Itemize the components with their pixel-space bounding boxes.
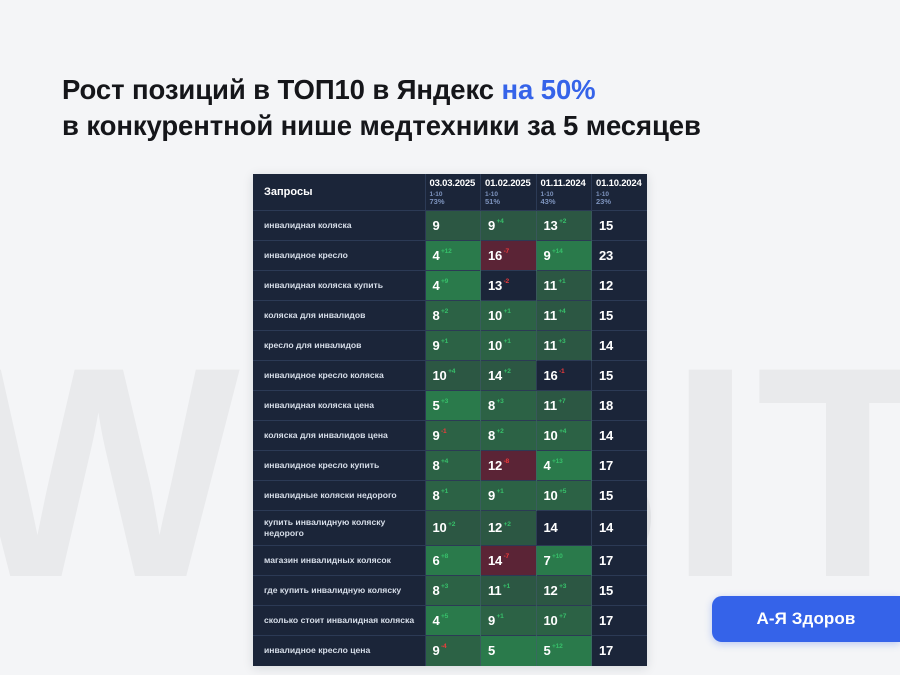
rank-value: 10 [433,368,447,383]
rank-value: 10 [544,428,558,443]
rank-value: 14 [544,520,558,535]
rank-delta: +4 [559,428,566,435]
rank-value: 15 [599,583,613,598]
table-row[interactable]: инвалидная коляска цена5+38+311+718 [253,391,647,421]
rank-cell: 16-7 [481,241,537,271]
rank-cell: 9+4 [481,211,537,241]
rank-delta: +9 [441,278,448,285]
rank-delta: +2 [497,428,504,435]
rank-cell: 17 [592,451,648,481]
rank-delta: +12 [441,248,452,255]
rank-value: 4 [433,278,440,293]
rank-delta: +1 [504,308,511,315]
column-header-date-2[interactable]: 01.11.2024 1-10 43% [536,174,592,211]
table-row[interactable]: инвалидные коляски недорого8+19+110+515 [253,481,647,511]
rank-cell: 14 [592,331,648,361]
rank-cell: 10+4 [536,421,592,451]
rank-value: 9 [433,218,440,233]
headline-line2: в конкурентной нише медтехники за 5 меся… [62,110,701,141]
rank-value: 8 [488,398,495,413]
rank-cell: 9-4 [425,636,481,666]
rank-cell: 15 [592,211,648,241]
column-header-queries: Запросы [253,174,425,211]
rank-delta: +2 [504,368,511,375]
query-cell: купить инвалидную коляску недорого [253,511,425,546]
rank-cell: 12 [592,271,648,301]
rank-delta: -1 [559,368,564,375]
table-row[interactable]: купить инвалидную коляску недорого10+212… [253,511,647,546]
headline-accent: на 50% [502,74,596,105]
rank-cell: 4+5 [425,606,481,636]
rank-cell: 15 [592,576,648,606]
rank-value: 13 [488,278,502,293]
rank-delta: +4 [441,458,448,465]
table-row[interactable]: кресло для инвалидов9+110+111+314 [253,331,647,361]
rank-cell: 9+1 [481,481,537,511]
rank-cell: 23 [592,241,648,271]
rank-value: 9 [433,643,440,658]
rank-delta: +2 [448,521,455,528]
rank-value: 7 [544,553,551,568]
rank-value: 9 [433,338,440,353]
rank-delta: +1 [441,338,448,345]
rank-delta: -1 [441,428,446,435]
query-cell: коляска для инвалидов цена [253,421,425,451]
rank-value: 12 [488,520,502,535]
rank-value: 13 [544,218,558,233]
rank-value: 8 [433,488,440,503]
rank-value: 4 [433,248,440,263]
rank-value: 6 [433,553,440,568]
rank-cell: 14-7 [481,546,537,576]
rank-value: 8 [433,458,440,473]
pct-label-0: 73% [430,198,481,206]
query-cell: инвалидная коляска [253,211,425,241]
query-cell: где купить инвалидную коляску [253,576,425,606]
rank-value: 14 [488,553,502,568]
rank-cell: 10+5 [536,481,592,511]
rank-cell: 8+2 [481,421,537,451]
rank-value: 17 [599,553,613,568]
rank-value: 5 [544,643,551,658]
rank-cell: 14 [592,511,648,546]
rank-value: 12 [599,278,613,293]
rank-cell: 6+8 [425,546,481,576]
query-cell: сколько стоит инвалидная коляска [253,606,425,636]
rank-value: 14 [599,428,613,443]
rank-delta: +14 [552,248,563,255]
rank-delta: +3 [558,338,565,345]
rank-cell: 14 [536,511,592,546]
table-header-row: Запросы 03.03.2025 1-10 73% 01.02.2025 1… [253,174,647,211]
table-row[interactable]: инвалидная коляска купить4+913-211+112 [253,271,647,301]
rank-value: 11 [544,338,557,353]
query-cell: кресло для инвалидов [253,331,425,361]
rank-delta: -4 [441,643,446,650]
rank-value: 12 [488,458,502,473]
rank-cell: 11+3 [536,331,592,361]
rank-cell: 14 [592,421,648,451]
column-header-date-0[interactable]: 03.03.2025 1-10 73% [425,174,481,211]
rank-value: 10 [488,338,502,353]
rank-delta: +7 [559,613,566,620]
rank-value: 9 [488,218,495,233]
column-header-date-1[interactable]: 01.02.2025 1-10 51% [481,174,537,211]
rank-cell: 9 [425,211,481,241]
query-cell: магазин инвалидных колясок [253,546,425,576]
date-label-3: 01.10.2024 [596,178,647,190]
rank-cell: 10+4 [425,361,481,391]
query-cell: инвалидная коляска цена [253,391,425,421]
rank-cell: 13+2 [536,211,592,241]
rank-value: 16 [544,368,558,383]
rank-value: 17 [599,613,613,628]
rank-delta: -7 [504,553,509,560]
rank-value: 23 [599,248,613,263]
rank-cell: 10+7 [536,606,592,636]
rank-value: 5 [433,398,440,413]
date-label-2: 01.11.2024 [541,178,592,190]
rank-cell: 17 [592,606,648,636]
rank-delta: +4 [497,218,504,225]
rank-delta: +2 [441,308,448,315]
rank-delta: +3 [441,398,448,405]
table-row[interactable]: сколько стоит инвалидная коляска4+59+110… [253,606,647,636]
rank-delta: +3 [559,583,566,590]
rank-value: 9 [433,428,440,443]
page-title: Рост позиций в ТОП10 в Яндекс на 50% в к… [62,72,852,145]
table-row[interactable]: коляска для инвалидов8+210+111+415 [253,301,647,331]
query-cell: инвалидное кресло купить [253,451,425,481]
rank-value: 14 [599,338,613,353]
rank-cell: 8+2 [425,301,481,331]
rank-cell: 10+1 [481,301,537,331]
table-row[interactable]: магазин инвалидных колясок6+814-77+1017 [253,546,647,576]
rank-cell: 4+12 [425,241,481,271]
rank-delta: +1 [558,278,565,285]
rank-delta: +1 [441,488,448,495]
rank-delta: -8 [504,458,509,465]
table-row[interactable]: инвалидное кресло коляска10+414+216-115 [253,361,647,391]
rank-value: 11 [488,583,501,598]
table-body: инвалидная коляска99+413+215инвалидное к… [253,211,647,666]
table-header: Запросы 03.03.2025 1-10 73% 01.02.2025 1… [253,174,647,211]
rank-delta: +7 [558,398,565,405]
rank-delta: +1 [497,488,504,495]
query-cell: инвалидное кресло [253,241,425,271]
rank-value: 9 [488,613,495,628]
rank-cell: 17 [592,546,648,576]
rank-value: 14 [488,368,502,383]
rank-cell: 18 [592,391,648,421]
date-label-1: 01.02.2025 [485,178,536,190]
rank-value: 10 [544,488,558,503]
rank-value: 8 [433,308,440,323]
table-row[interactable]: инвалидное кресло купить8+412-84+1317 [253,451,647,481]
rank-cell: 12+3 [536,576,592,606]
headline-line1-pre: Рост позиций в ТОП10 в Яндекс [62,74,502,105]
rank-cell: 9+1 [425,331,481,361]
rank-cell: 11+1 [536,271,592,301]
rank-value: 15 [599,218,613,233]
rank-cell: 15 [592,481,648,511]
rank-cell: 8+3 [481,391,537,421]
rank-value: 11 [544,278,557,293]
rank-delta: +4 [448,368,455,375]
rank-delta: +13 [552,458,563,465]
rank-value: 14 [599,520,613,535]
rank-value: 15 [599,308,613,323]
rank-value: 15 [599,368,613,383]
table-row[interactable]: коляска для инвалидов цена9-18+210+414 [253,421,647,451]
rank-value: 9 [544,248,551,263]
rank-cell: 14+2 [481,361,537,391]
table-row[interactable]: где купить инвалидную коляску8+311+112+3… [253,576,647,606]
rank-delta: +1 [497,613,504,620]
query-cell: коляска для инвалидов [253,301,425,331]
rank-cell: 13-2 [481,271,537,301]
rank-delta: +1 [503,583,510,590]
column-header-date-3[interactable]: 01.10.2024 1-10 23% [592,174,648,211]
rank-value: 9 [488,488,495,503]
rank-value: 12 [544,583,558,598]
rank-cell: 15 [592,301,648,331]
rank-cell: 9+1 [481,606,537,636]
rank-delta: +5 [441,613,448,620]
rank-value: 4 [433,613,440,628]
rank-cell: 10+1 [481,331,537,361]
cta-button[interactable]: А-Я Здоров [712,596,900,642]
rank-cell: 11+4 [536,301,592,331]
rank-cell: 12+2 [481,511,537,546]
rank-delta: -2 [504,278,509,285]
rank-delta: +3 [497,398,504,405]
rank-value: 5 [488,643,495,658]
rank-cell: 12-8 [481,451,537,481]
rank-value: 10 [488,308,502,323]
rank-delta: +2 [504,521,511,528]
rank-value: 17 [599,643,613,658]
rank-delta: +4 [558,308,565,315]
rank-cell: 5+3 [425,391,481,421]
rank-value: 16 [488,248,502,263]
pct-label-2: 43% [541,198,592,206]
pct-label-1: 51% [485,198,536,206]
rank-cell: 17 [592,636,648,666]
rank-value: 10 [433,520,447,535]
rank-cell: 8+3 [425,576,481,606]
rank-value: 11 [544,308,557,323]
date-label-0: 03.03.2025 [430,178,481,190]
rank-value: 15 [599,488,613,503]
rankings-table: Запросы 03.03.2025 1-10 73% 01.02.2025 1… [253,174,647,666]
rank-value: 10 [544,613,558,628]
table-row[interactable]: инвалидное кресло цена9-455+1217 [253,636,647,666]
rank-cell: 7+10 [536,546,592,576]
rank-value: 4 [544,458,551,473]
query-cell: инвалидное кресло цена [253,636,425,666]
rank-delta: -7 [504,248,509,255]
rank-value: 8 [433,583,440,598]
rank-cell: 8+1 [425,481,481,511]
query-cell: инвалидная коляска купить [253,271,425,301]
rank-delta: +5 [559,488,566,495]
rank-value: 17 [599,458,613,473]
rank-cell: 9+14 [536,241,592,271]
rank-delta: +8 [441,553,448,560]
rank-value: 18 [599,398,613,413]
rankings-table-panel: Запросы 03.03.2025 1-10 73% 01.02.2025 1… [253,174,647,666]
rank-cell: 11+1 [481,576,537,606]
rank-value: 8 [488,428,495,443]
rank-cell: 10+2 [425,511,481,546]
rank-cell: 4+9 [425,271,481,301]
rank-cell: 16-1 [536,361,592,391]
table-row[interactable]: инвалидная коляска99+413+215 [253,211,647,241]
rank-delta: +12 [552,643,563,650]
rank-cell: 5+12 [536,636,592,666]
rank-delta: +2 [559,218,566,225]
query-cell: инвалидное кресло коляска [253,361,425,391]
rank-value: 11 [544,398,557,413]
table-row[interactable]: инвалидное кресло4+1216-79+1423 [253,241,647,271]
pct-label-3: 23% [596,198,647,206]
query-cell: инвалидные коляски недорого [253,481,425,511]
cta-button-label: А-Я Здоров [757,609,856,629]
rank-cell: 9-1 [425,421,481,451]
rank-cell: 5 [481,636,537,666]
rank-delta: +3 [441,583,448,590]
rank-cell: 8+4 [425,451,481,481]
rank-delta: +1 [504,338,511,345]
rank-cell: 4+13 [536,451,592,481]
rank-delta: +10 [552,553,563,560]
rank-cell: 11+7 [536,391,592,421]
rank-cell: 15 [592,361,648,391]
